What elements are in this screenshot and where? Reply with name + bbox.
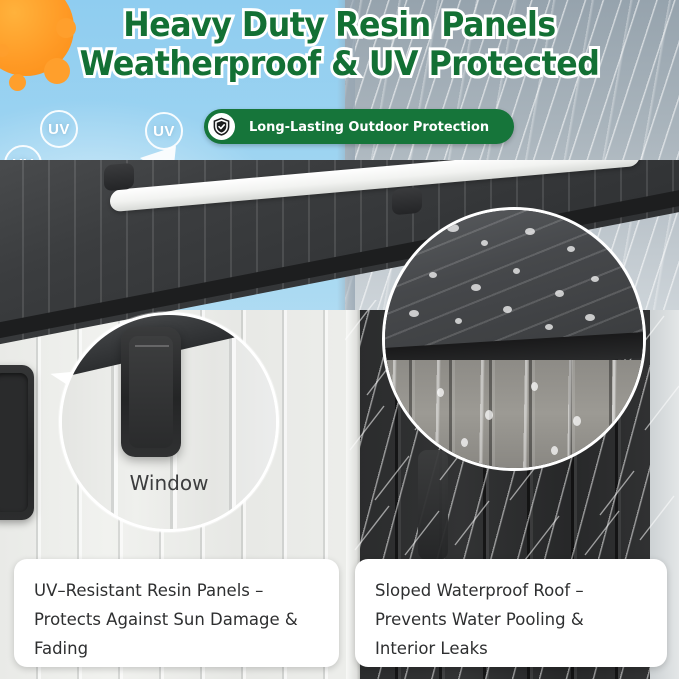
headline-line-1: Heavy Duty Resin Panels [24,6,655,45]
headline-line-2: Weatherproof & UV Protected [24,45,655,84]
shield-check-icon [208,113,235,140]
status-badge: Long-Lasting Outdoor Protection [204,109,514,144]
callout-rain-detail [382,207,646,471]
caption-card-uv: UV–Resistant Resin Panels – Protects Aga… [14,559,339,667]
uv-marker-icon: UV [40,110,78,148]
uv-marker-icon: UV [145,112,183,150]
ridge-end-cap [104,163,134,192]
caption-card-roof: Sloped Waterproof Roof – Prevents Water … [355,559,667,667]
callout-window-label: Window [62,471,276,495]
shed-window [0,365,34,520]
callout-window: Window [59,312,279,532]
badge-label: Long-Lasting Outdoor Protection [249,119,489,135]
page-title: Heavy Duty Resin Panels Weatherproof & U… [24,6,655,84]
water-droplets [385,210,643,468]
window-closeup [121,327,181,457]
product-feature-graphic: UV UV UV Heavy Duty Resin Panels Weather… [0,0,679,679]
